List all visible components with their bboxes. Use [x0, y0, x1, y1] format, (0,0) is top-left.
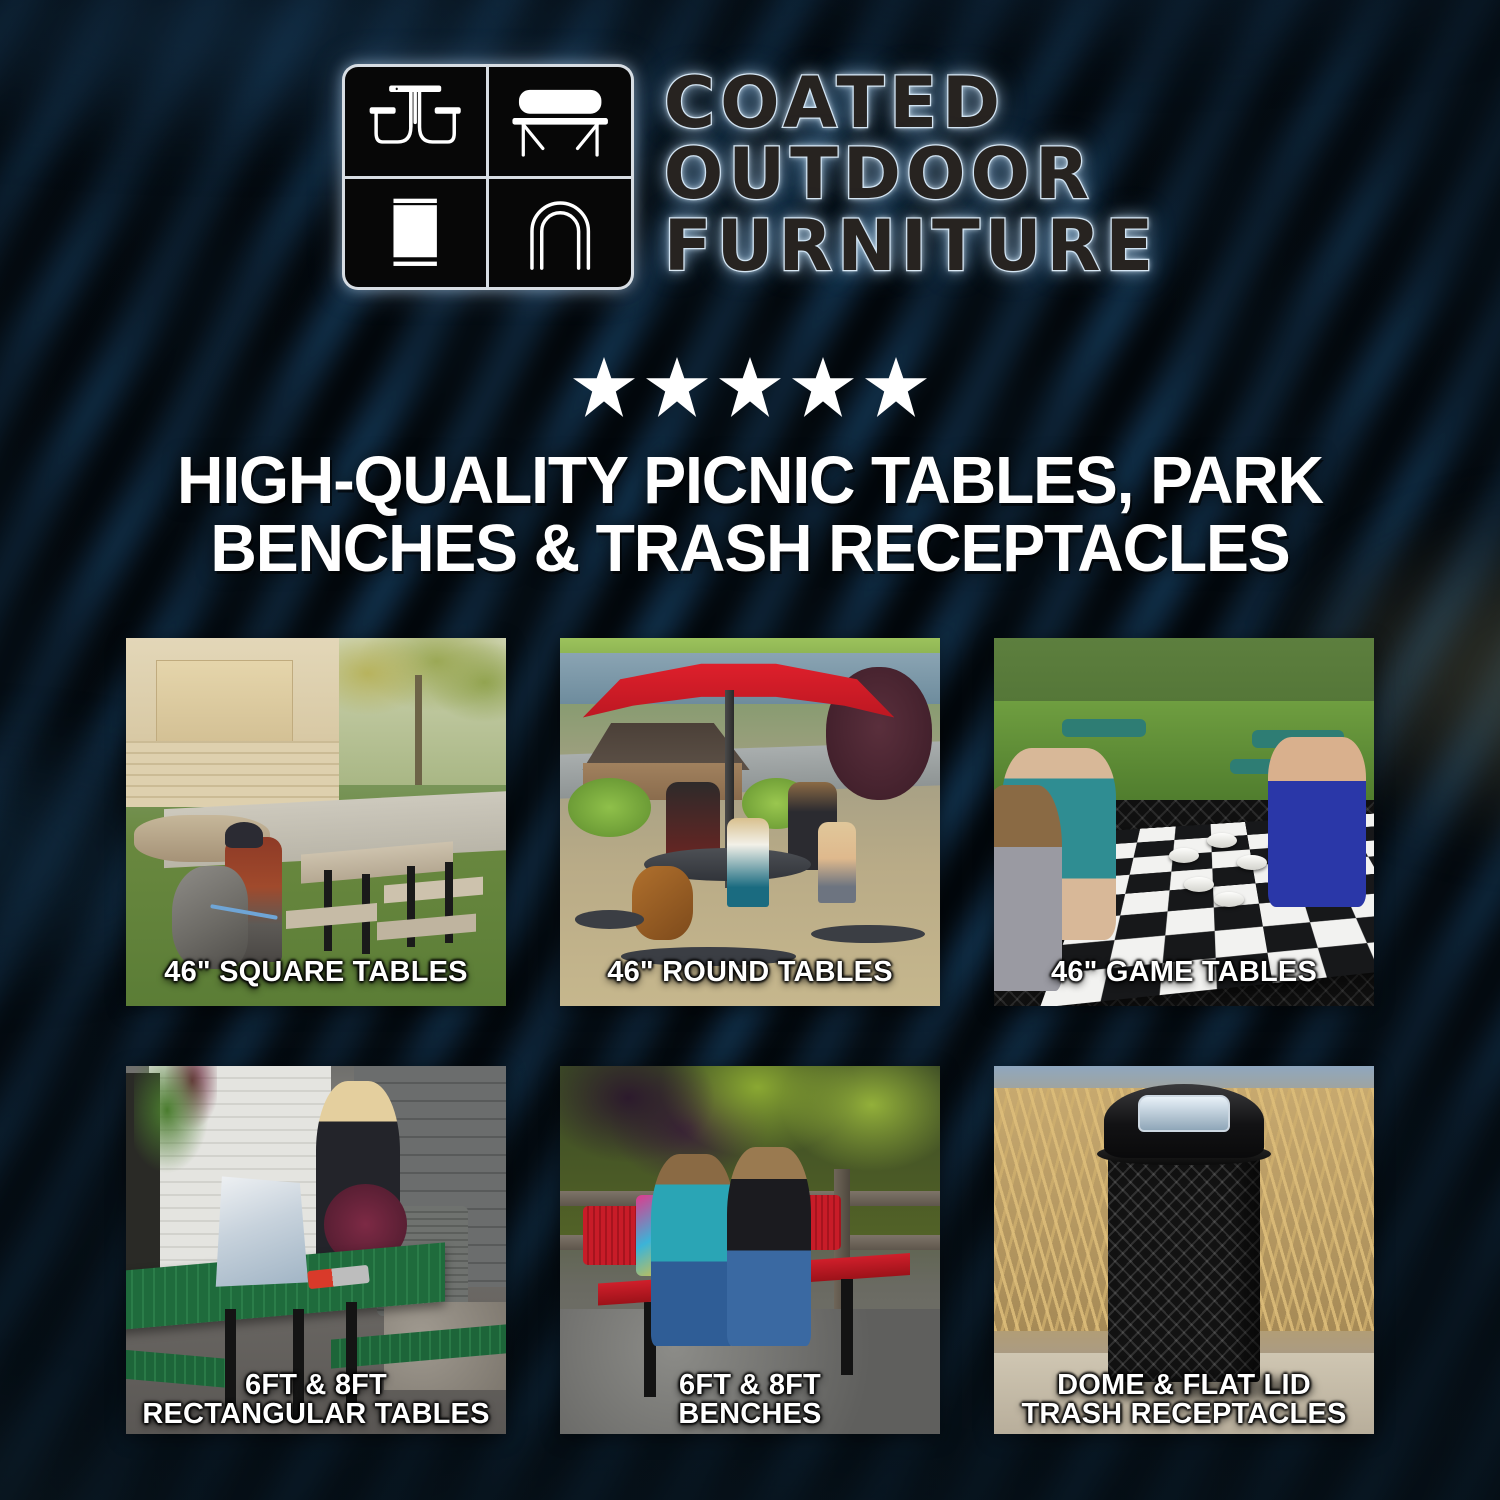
product-tile-round-tables[interactable]: 46" ROUND TABLES: [560, 638, 940, 1006]
scene-round-tables: [560, 638, 940, 1006]
star-icon: [792, 357, 854, 417]
product-tile-square-tables[interactable]: 46" SQUARE TABLES: [126, 638, 506, 1006]
caption-line: 46" SQUARE TABLES: [104, 958, 528, 988]
brand-word-coated: COATED: [664, 69, 1159, 138]
product-caption-game-tables: 46" GAME TABLES: [972, 958, 1396, 988]
product-caption-benches: 6FT & 8FT BENCHES: [538, 1371, 962, 1430]
product-photo-game-tables: [994, 638, 1374, 1006]
brand-word-furniture: FURNITURE: [664, 212, 1159, 281]
caption-line: 46" GAME TABLES: [972, 958, 1396, 988]
brand-word-outdoor: OUTDOOR: [664, 140, 1159, 209]
product-tile-trash-receptacles[interactable]: DOME & FLAT LID TRASH RECEPTACLES: [994, 1066, 1374, 1434]
product-grid: 46" SQUARE TABLES: [126, 638, 1374, 1434]
product-caption-round-tables: 46" ROUND TABLES: [538, 958, 962, 988]
star-icon: [646, 357, 708, 417]
headline-line-2: BENCHES & TRASH RECEPTACLES: [88, 515, 1413, 583]
page-title: HIGH-QUALITY PICNIC TABLES, PARK BENCHES…: [88, 447, 1413, 584]
product-caption-trash-receptacles: DOME & FLAT LID TRASH RECEPTACLES: [972, 1371, 1396, 1430]
caption-line: 46" ROUND TABLES: [538, 958, 962, 988]
brand-logo-mark: [342, 64, 634, 290]
scene-game-tables: [994, 638, 1374, 1006]
caption-line: RECTANGULAR TABLES: [104, 1400, 528, 1430]
brand-wordmark: COATED OUTDOOR FURNITURE: [664, 69, 1159, 285]
product-photo-square-tables: [126, 638, 506, 1006]
product-photo-round-tables: [560, 638, 940, 1006]
headline-line-1: HIGH-QUALITY PICNIC TABLES, PARK: [88, 447, 1413, 515]
bench-icon: [489, 67, 631, 176]
promo-poster: COATED OUTDOOR FURNITURE HIGH-QUALITY PI…: [0, 0, 1500, 1500]
product-caption-rectangular-tables: 6FT & 8FT RECTANGULAR TABLES: [104, 1371, 528, 1430]
star-icon: [865, 357, 927, 417]
caption-line: DOME & FLAT LID: [972, 1371, 1396, 1401]
bike-rack-arch-icon: [489, 179, 631, 288]
caption-line: 6FT & 8FT: [538, 1371, 962, 1401]
caption-line: TRASH RECEPTACLES: [972, 1400, 1396, 1430]
star-rating: [0, 357, 1500, 417]
scene-square-tables: [126, 638, 506, 1006]
brand-header: COATED OUTDOOR FURNITURE: [0, 64, 1500, 290]
caption-line: BENCHES: [538, 1400, 962, 1430]
star-icon: [573, 357, 635, 417]
product-tile-game-tables[interactable]: 46" GAME TABLES: [994, 638, 1374, 1006]
picnic-table-icon: [345, 67, 487, 176]
caption-line: 6FT & 8FT: [104, 1371, 528, 1401]
trash-receptacle-icon: [345, 179, 487, 288]
product-tile-benches[interactable]: 6FT & 8FT BENCHES: [560, 1066, 940, 1434]
product-tile-rectangular-tables[interactable]: 6FT & 8FT RECTANGULAR TABLES: [126, 1066, 506, 1434]
star-icon: [719, 357, 781, 417]
product-caption-square-tables: 46" SQUARE TABLES: [104, 958, 528, 988]
